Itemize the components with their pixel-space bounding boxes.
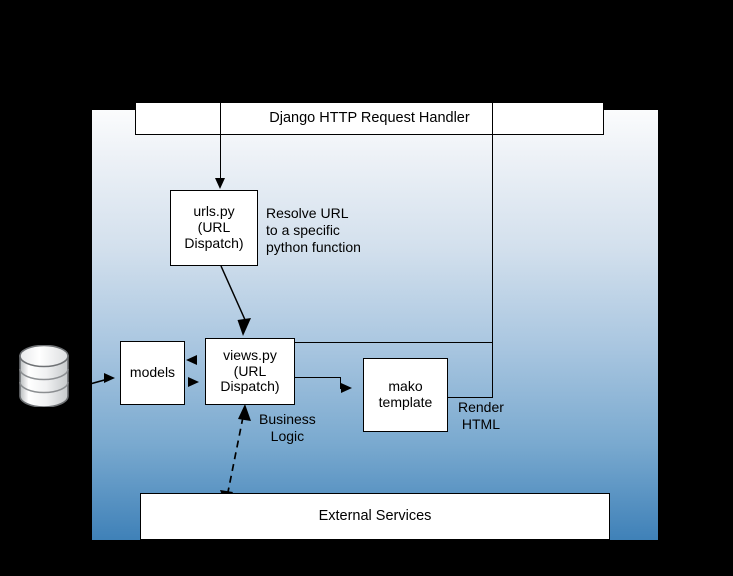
arrowhead-db-to-models <box>104 373 115 383</box>
node-external-services[interactable]: External Services <box>140 493 610 540</box>
edge-urls-to-views <box>221 266 246 322</box>
arrowhead-to-views <box>238 404 251 421</box>
node-urls-py[interactable]: urls.py (URL Dispatch) <box>170 190 258 266</box>
edge-handler-right-branch <box>492 135 493 398</box>
django-bar-divider-left <box>220 102 221 135</box>
node-label: models <box>126 365 179 381</box>
caption-business-logic: Business Logic <box>259 411 316 445</box>
arrowhead-into-views <box>188 377 199 387</box>
node-django-http-request-handler[interactable]: Django HTTP Request Handler <box>135 102 604 135</box>
edge-views-external <box>228 417 243 492</box>
node-label: views.py (URL Dispatch) <box>216 348 283 395</box>
database-cylinder-icon <box>18 345 70 407</box>
node-views-py[interactable]: views.py (URL Dispatch) <box>205 338 295 405</box>
node-mako-template[interactable]: mako template <box>363 358 448 432</box>
node-label: urls.py (URL Dispatch) <box>180 204 247 251</box>
caption-render-html: Render HTML <box>458 399 504 433</box>
arrowhead-into-models <box>186 355 197 365</box>
node-label: External Services <box>315 508 436 524</box>
edge-views-to-mako-h <box>295 377 341 378</box>
django-bar-divider-right <box>492 102 493 135</box>
arrowhead-into-mako <box>341 383 352 393</box>
edge-db-to-models <box>72 379 108 389</box>
node-label: mako template <box>375 379 437 410</box>
node-label: Django HTTP Request Handler <box>265 110 473 126</box>
caption-resolve-url: Resolve URL to a specific python functio… <box>266 205 361 255</box>
arrowhead-into-urls <box>215 178 225 189</box>
diagram-canvas: Django HTTP Request Handler urls.py (URL… <box>0 0 733 576</box>
edge-views-to-handler <box>295 342 492 343</box>
node-models[interactable]: models <box>120 341 185 405</box>
connector-layer <box>0 0 733 576</box>
arrowhead-urls-to-views <box>238 318 252 336</box>
